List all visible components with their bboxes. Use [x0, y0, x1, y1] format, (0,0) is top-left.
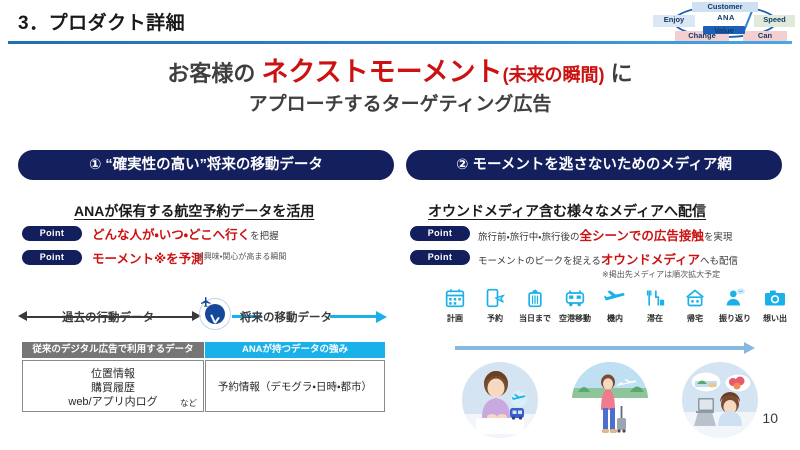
point-lead: モーメントのピークを捉える	[478, 256, 601, 267]
journey-step-kitaku: 帰宅	[676, 288, 714, 324]
journey-step-label: 当日まで	[516, 313, 554, 324]
logo-label-customer: Customer	[692, 2, 758, 12]
headline-suffix: に	[605, 61, 633, 86]
journey-step-label: 機内	[596, 313, 634, 324]
timeline-past-label: 過去の行動データ	[62, 309, 154, 325]
table-header-ana: ANAが持つデータの強み	[205, 342, 385, 358]
page-title: 3．プロダクト詳細	[18, 8, 185, 35]
list-item: 位置情報	[23, 367, 203, 381]
logo-label-enjoy: Enjoy	[653, 15, 695, 27]
headline-prefix: お客様の	[167, 61, 261, 86]
journey-step-kuukou: 空港移動	[556, 288, 594, 324]
point-emphasis: オウンドメディア	[601, 253, 700, 267]
point-tail: を実現	[704, 232, 733, 243]
journey-step-label: 滞在	[636, 313, 674, 324]
journey-step-label: 想い出	[756, 313, 794, 324]
point-text: モーメント※を予測	[92, 248, 204, 267]
clock-minute-hand	[210, 315, 215, 324]
camera-icon	[756, 288, 794, 312]
ana-value-logo: Customer Enjoy Speed Change Can ANA Valu…	[651, 2, 795, 42]
legacy-data-list: 位置情報 購買履歴 web/アプリ内ログ	[23, 367, 203, 409]
woman-walking-with-luggage-photo	[572, 362, 648, 438]
woman-at-laptop-recalling-photo	[682, 362, 758, 438]
point-text: 旅行前・旅行中・旅行後の全シーンでの広告接触を実現	[478, 225, 732, 244]
point-emphasis: どんな人が・いつ・どこへ行く	[92, 228, 250, 242]
point-tail: を把握	[250, 231, 279, 242]
woman-planning-trip-photo	[462, 362, 538, 438]
person-review-icon: •••	[716, 288, 754, 312]
journey-step-kinai: 機内	[596, 288, 634, 324]
point-badge: Point	[22, 250, 82, 265]
list-item: web/アプリ内ログ	[23, 395, 203, 409]
logo-label-can: Can	[743, 31, 787, 41]
journey-step-toujitsu: 当日まで	[516, 288, 554, 324]
timeline-future-label: 将来の移動データ	[240, 309, 332, 325]
journey-step-label: 空港移動	[556, 313, 594, 324]
slide-root: 3．プロダクト詳細 Customer Enjoy Speed Change Ca…	[0, 0, 800, 450]
column-1-subheading: ANAが保有する航空予約データを活用	[74, 201, 314, 221]
airplane-icon	[596, 288, 634, 312]
section-header-2: ② モーメントを逃さないためのメディア網	[406, 150, 782, 180]
table-cell-ana: 予約情報（デモグラ・日時・都市）	[205, 360, 385, 412]
headline-emphasis: ネクストモーメント	[261, 57, 502, 87]
calendar-icon	[436, 288, 474, 312]
point-badge: Point	[410, 250, 470, 265]
table-header-legacy: 従来のデジタル広告で利用するデータ	[22, 342, 204, 358]
column-2-subheading: オウンドメディア含む様々なメディアへ配信	[428, 201, 706, 221]
headline-line-1: お客様の ネクストモーメント(未来の瞬間) に	[0, 57, 800, 90]
journey-step-yoyaku: 予約	[476, 288, 514, 324]
headline-emphasis-paren: (未来の瞬間)	[503, 65, 605, 85]
train-icon	[556, 288, 594, 312]
point-emphasis: モーメント※を予測	[92, 252, 204, 266]
future-axis-line-2	[330, 315, 378, 318]
dining-icon	[636, 288, 674, 312]
clock-plane-icon	[198, 296, 234, 332]
journey-step-furikaeri: ••• 振り返り	[716, 288, 754, 324]
list-item: 購買履歴	[23, 381, 203, 395]
point-text: どんな人が・いつ・どこへ行くを把握	[92, 224, 279, 243]
table-cell-legacy: 位置情報 購買履歴 web/アプリ内ログ など	[22, 360, 204, 412]
point-footnote: ※興味・関心が高まる瞬間	[197, 251, 286, 262]
headline: お客様の ネクストモーメント(未来の瞬間) に アプローチするターゲティング広告	[0, 57, 800, 118]
headline-line-2: アプローチするターゲティング広告	[0, 92, 800, 118]
page-number: 10	[762, 410, 778, 426]
logo-label-value: Value	[703, 26, 745, 34]
ana-data-value: 予約情報（デモグラ・日時・都市）	[206, 379, 384, 394]
point-lead: 旅行前・旅行中・旅行後の	[478, 232, 579, 243]
point-tail: へも配信	[700, 256, 738, 267]
airplane-icon	[200, 296, 212, 308]
journey-step-label: 予約	[476, 313, 514, 324]
journey-step-label: 帰宅	[676, 313, 714, 324]
suitcase-icon	[516, 288, 554, 312]
column-2-footnote: ※掲出先メディアは順次拡大予定	[602, 269, 720, 280]
section-header-1: ① “確実性の高い”将来の移動データ	[18, 150, 394, 180]
journey-step-keikaku: 計画	[436, 288, 474, 324]
home-icon	[676, 288, 714, 312]
journey-progress-arrow	[455, 346, 745, 350]
point-text: モーメントのピークを捉えるオウンドメディアへも配信	[478, 249, 738, 268]
point-badge: Point	[410, 226, 470, 241]
logo-label-speed: Speed	[754, 15, 795, 27]
legacy-data-etc: など	[180, 397, 197, 409]
mobile-booking-icon	[476, 288, 514, 312]
journey-step-omoide: 想い出	[756, 288, 794, 324]
journey-step-label: 振り返り	[716, 313, 754, 324]
past-axis-line-2	[148, 316, 194, 318]
journey-icon-strip: 計画 予約 当日まで 空港移動 機内	[436, 288, 786, 332]
journey-step-taizai: 滞在	[636, 288, 674, 324]
future-arrow-icon	[376, 311, 387, 323]
point-badge: Point	[22, 226, 82, 241]
journey-progress-arrow-head	[744, 342, 755, 354]
journey-step-label: 計画	[436, 313, 474, 324]
point-emphasis: 全シーンでの広告接触	[579, 229, 703, 243]
